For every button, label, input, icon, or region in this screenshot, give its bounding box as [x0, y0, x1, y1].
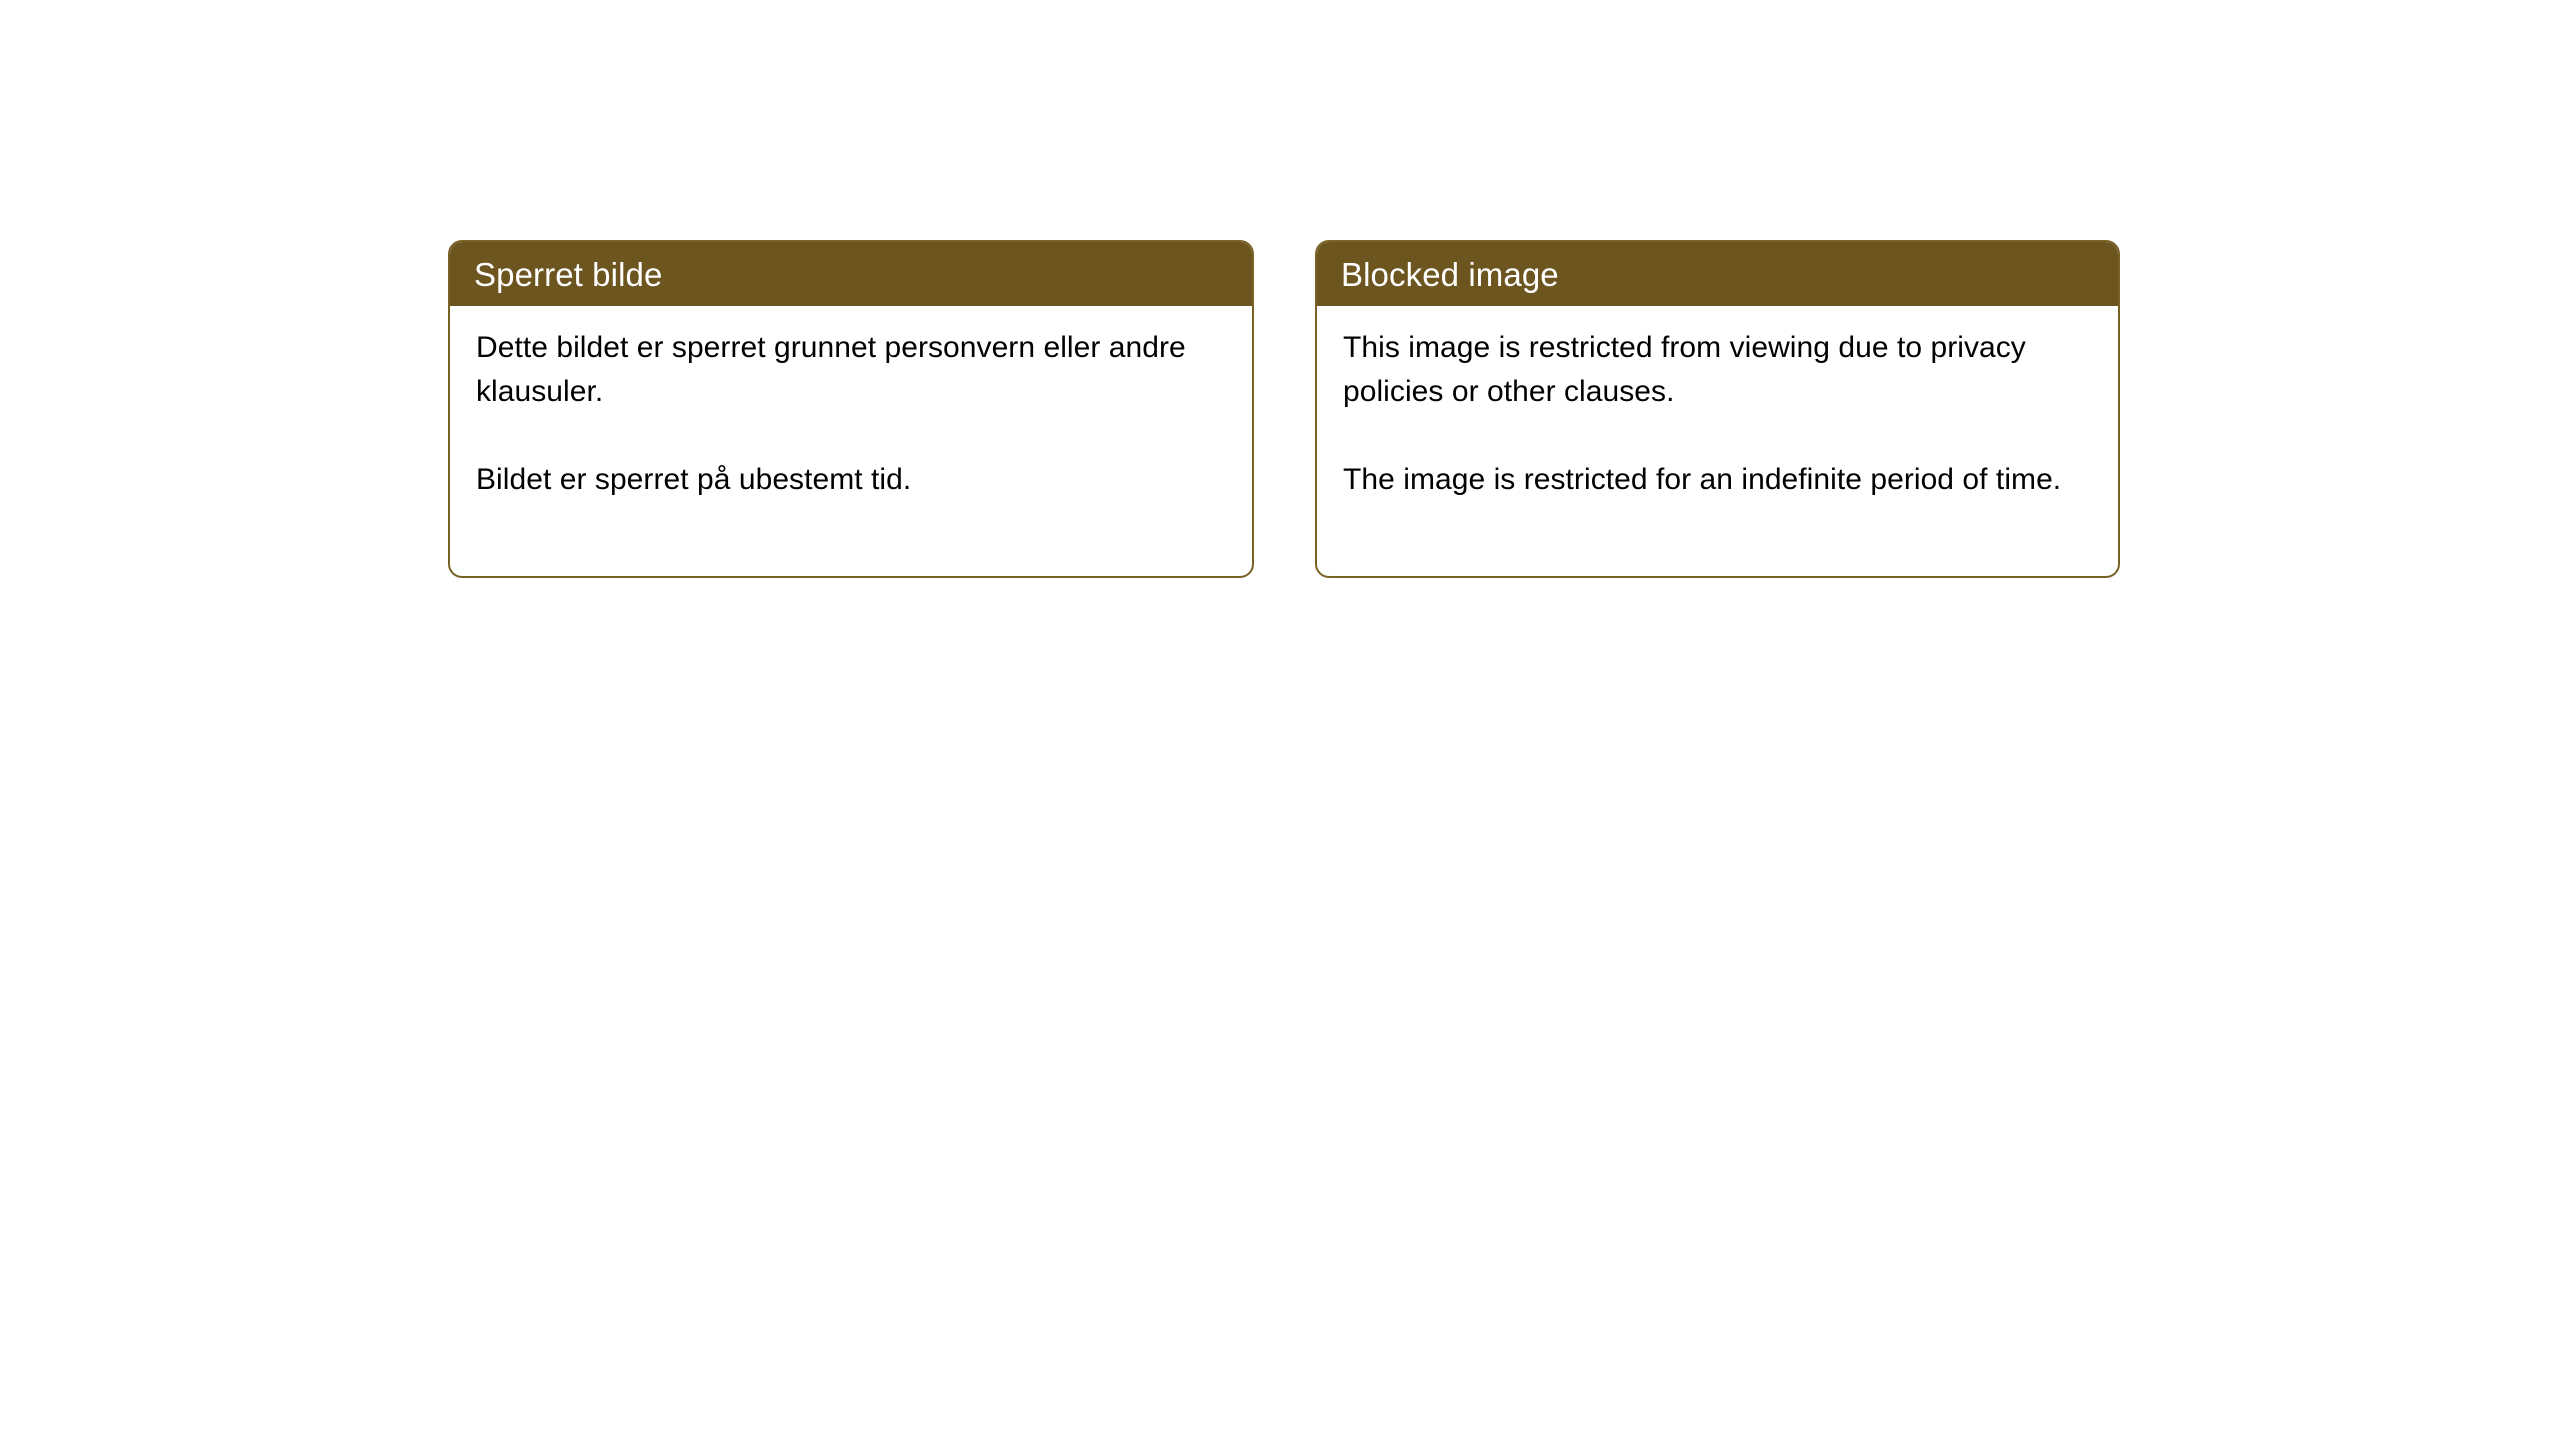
card-header-english: Blocked image	[1317, 242, 2118, 306]
card-title-norwegian: Sperret bilde	[474, 258, 662, 291]
card-paragraph-secondary-norwegian: Bildet er sperret på ubestemt tid.	[476, 458, 1226, 502]
card-paragraph-primary-english: This image is restricted from viewing du…	[1343, 326, 2092, 414]
card-title-english: Blocked image	[1341, 258, 1559, 291]
card-paragraph-primary-norwegian: Dette bildet er sperret grunnet personve…	[476, 326, 1226, 414]
card-paragraph-secondary-english: The image is restricted for an indefinit…	[1343, 458, 2092, 502]
card-body-english: This image is restricted from viewing du…	[1317, 306, 2118, 502]
blocked-image-notice-english: Blocked image This image is restricted f…	[1315, 240, 2120, 578]
card-header-norwegian: Sperret bilde	[450, 242, 1252, 306]
page-root: Sperret bilde Dette bildet er sperret gr…	[0, 0, 2560, 1440]
blocked-image-notice-norwegian: Sperret bilde Dette bildet er sperret gr…	[448, 240, 1254, 578]
card-body-norwegian: Dette bildet er sperret grunnet personve…	[450, 306, 1252, 502]
